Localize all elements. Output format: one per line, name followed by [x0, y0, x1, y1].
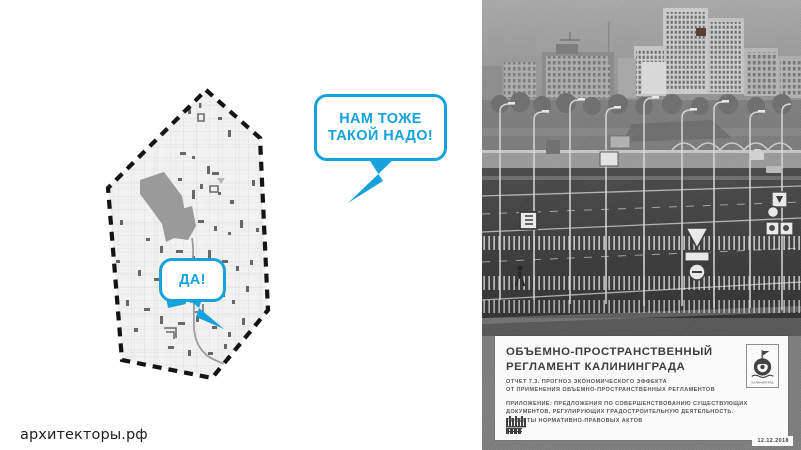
kaliningrad-coat-of-arms-icon: КАЛИНИНГРАД — [746, 344, 779, 388]
cover-date-badge: 12.12.2018 — [752, 436, 793, 446]
callout-bubble-yes[interactable]: ДА! — [159, 258, 226, 302]
cover-title: ОБЪЕМНО-ПРОСТРАНСТВЕННЫЙ РЕГЛАМЕНТ КАЛИН… — [506, 345, 721, 374]
callout-big-text: НАМ ТОЖЕТАКОЙ НАДО! — [322, 111, 439, 143]
callout-tail-big — [342, 155, 402, 207]
dom-rf-logo — [506, 416, 532, 435]
cover-photo-highway-interchange — [482, 0, 801, 336]
cover-appendix-note: ПРИЛОЖЕНИЕ: ПРЕДЛОЖЕНИЯ ПО СОВЕРШЕНСТВОВ… — [506, 400, 756, 426]
svg-text:КАЛИНИНГРАД: КАЛИНИНГРАД — [752, 380, 775, 384]
city-map-container[interactable]: НАМ ТОЖЕТАКОЙ НАДО! ДА! — [60, 60, 360, 400]
callout-bubble-need-one-too[interactable]: НАМ ТОЖЕТАКОЙ НАДО! — [314, 94, 447, 161]
report-cover-thumbnail[interactable]: ОБЪЕМНО-ПРОСТРАНСТВЕННЫЙ РЕГЛАМЕНТ КАЛИН… — [482, 0, 801, 450]
cover-subtitle: ОТЧЕТ 7.3. ПРОГНОЗ ЭКОНОМИЧЕСКОГО ЭФФЕКТ… — [506, 378, 736, 395]
brand-architectors-rf[interactable]: архитекторы.рф — [20, 427, 148, 443]
slide-canvas: НАМ ТОЖЕТАКОЙ НАДО! ДА! архитекторы.рф — [0, 0, 801, 450]
cover-text-plate: ОБЪЕМНО-ПРОСТРАНСТВЕННЫЙ РЕГЛАМЕНТ КАЛИН… — [495, 336, 788, 440]
map-slide-panel: НАМ ТОЖЕТАКОЙ НАДО! ДА! архитекторы.рф — [0, 0, 482, 450]
callout-small-text: ДА! — [179, 272, 206, 288]
